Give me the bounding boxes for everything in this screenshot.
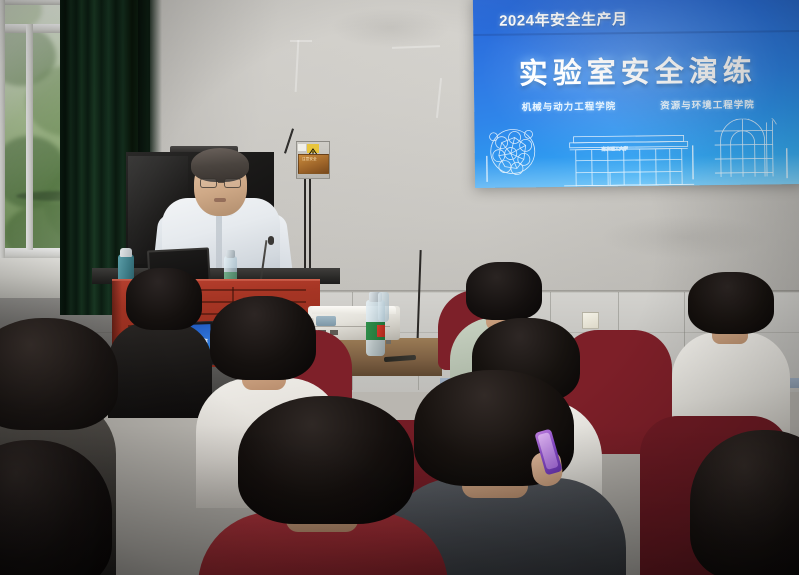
window-mullion bbox=[26, 24, 33, 250]
window-frame-left bbox=[0, 0, 5, 260]
presenter-mouth bbox=[214, 198, 226, 202]
presenter-glasses-bridge bbox=[218, 182, 224, 183]
attendee-black-tee-hair bbox=[126, 268, 202, 330]
attendee-sage-hair bbox=[466, 262, 542, 320]
lecture-hall-photo: 2024年安全生产月 实验室安全演练 机械与动力工程学院 资源与环境工程学院 bbox=[0, 0, 799, 575]
water-bottle-table-label-accent bbox=[377, 325, 385, 337]
slide-subtitle-right: 资源与环境工程学院 bbox=[660, 97, 755, 112]
attendee-white-tee-left-hair bbox=[210, 296, 316, 380]
slide-subtitle-left: 机械与动力工程学院 bbox=[522, 98, 617, 113]
attendee-black-tee-body bbox=[108, 322, 212, 418]
slide-eyebrow-text: 2024年安全生产月 bbox=[499, 8, 628, 31]
attendee-front-red-hair bbox=[238, 396, 414, 524]
wall-switch[interactable] bbox=[582, 312, 599, 329]
electrical-box: 注意安全 bbox=[296, 141, 330, 179]
slide-title-text: 实验室安全演练 bbox=[474, 47, 799, 93]
electrical-panel-text: 注意安全 bbox=[302, 157, 317, 161]
presenter-glasses-right bbox=[224, 178, 241, 188]
wall-scuff-2 bbox=[290, 40, 312, 42]
wall-smudge-2 bbox=[600, 215, 770, 259]
wall-smudge-1 bbox=[330, 8, 450, 48]
projector-vent bbox=[316, 316, 336, 326]
thermos-cap bbox=[120, 248, 132, 257]
projection-screen: 2024年安全生产月 实验室安全演练 机械与动力工程学院 资源与环境工程学院 bbox=[473, 0, 799, 188]
slide-surface: 2024年安全生产月 实验室安全演练 机械与动力工程学院 资源与环境工程学院 bbox=[473, 0, 799, 188]
slide-glow-base bbox=[475, 154, 799, 188]
water-bottle-small bbox=[378, 292, 389, 322]
water-bottle-podium-cap bbox=[226, 250, 235, 258]
electrical-panel-face: 注意安全 bbox=[298, 154, 329, 174]
building-caption: 南京理工大学 bbox=[601, 145, 628, 152]
presenter-hair bbox=[191, 148, 249, 182]
warning-triangle-icon bbox=[307, 144, 319, 153]
attendee-white-tee-right-hair bbox=[688, 272, 774, 334]
presenter-glasses-left bbox=[200, 178, 217, 188]
electrical-box-tag bbox=[298, 144, 306, 151]
microphone-head bbox=[268, 236, 274, 245]
